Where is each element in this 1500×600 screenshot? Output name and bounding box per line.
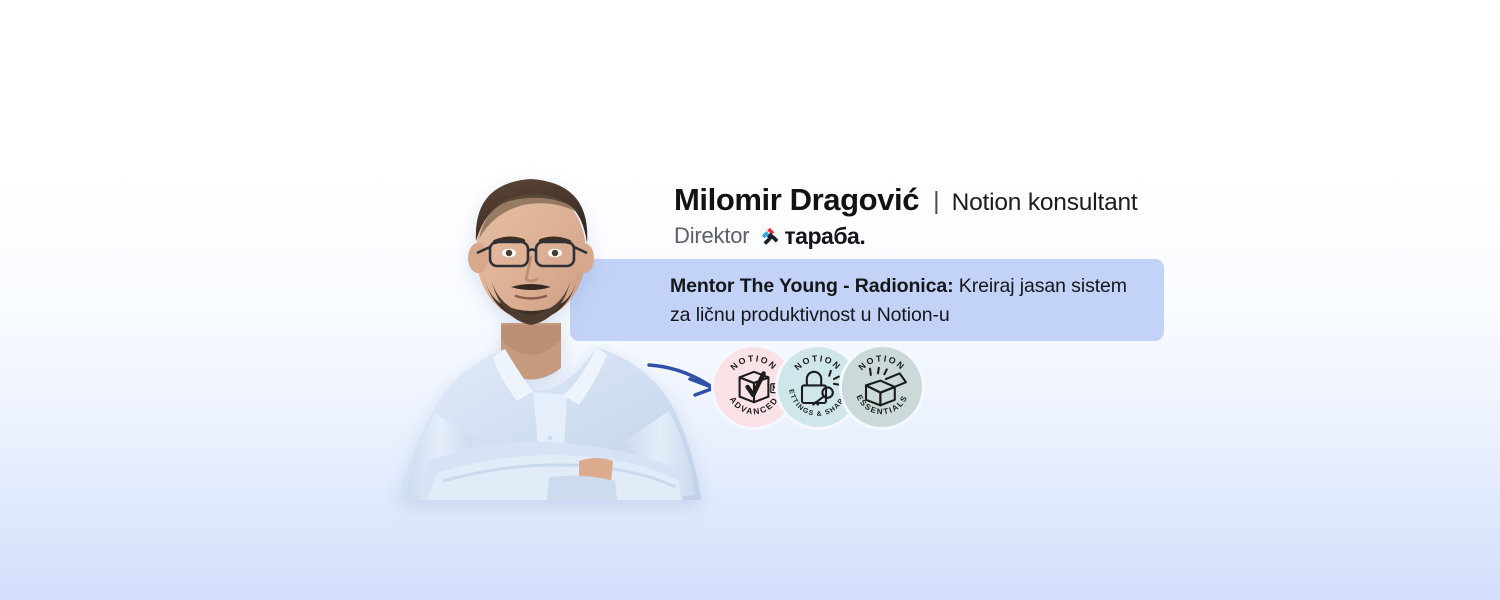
- certification-badges: NOTION ADVANCED: [714, 347, 922, 427]
- speaker-subline: Direktor тараба .: [674, 223, 866, 249]
- company-name: тараба: [784, 225, 859, 248]
- headline-separator: |: [933, 187, 940, 216]
- badge-notion-essentials[interactable]: NOTION ESSENTIALS: [842, 347, 922, 427]
- banner-stage: Mentor The Young - Radionica: Kreiraj ja…: [0, 0, 1500, 600]
- speaker-headline: Milomir Dragović | Notion konsultant: [674, 182, 1138, 218]
- speaker-role: Notion konsultant: [952, 189, 1138, 217]
- speaker-name: Milomir Dragović: [674, 182, 919, 218]
- session-banner-text: Mentor The Young - Radionica: Kreiraj ja…: [670, 272, 1140, 330]
- company-name-dot: .: [859, 225, 865, 248]
- speaker-position-label: Direktor: [674, 223, 749, 249]
- company-logo: тараба .: [760, 225, 865, 248]
- speaker-portrait: [383, 143, 713, 503]
- tapaba-pinwheel-icon: [760, 226, 781, 247]
